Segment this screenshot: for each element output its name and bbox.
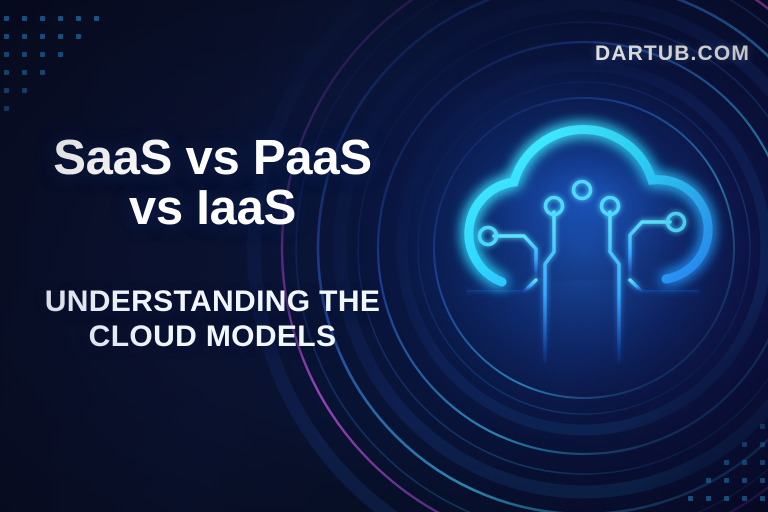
headline-line-1: SaaS vs PaaS	[53, 131, 372, 185]
grid-dot	[724, 478, 729, 483]
grid-dot	[4, 88, 9, 93]
vignette-overlay	[0, 0, 768, 512]
dot-grid-bottom-right	[688, 424, 768, 512]
grid-dot	[58, 34, 63, 39]
promo-banner: DARTUB.COM SaaS vs PaaS vs IaaS UNDERSTA…	[0, 0, 768, 512]
grid-dot	[40, 16, 45, 21]
grid-dot	[760, 442, 765, 447]
grid-dot	[760, 424, 765, 429]
grid-dot	[688, 496, 693, 501]
grid-dot	[4, 34, 9, 39]
grid-dot	[742, 442, 747, 447]
concentric-rings-decoration	[0, 0, 768, 512]
cloud-circuit-icon	[432, 104, 732, 394]
grid-dot	[40, 52, 45, 57]
grid-dot	[22, 88, 27, 93]
page-title: SaaS vs PaaS vs IaaS	[0, 133, 425, 234]
subhead-line-2: CLOUD MODELS	[0, 319, 425, 354]
grid-dot	[724, 496, 729, 501]
grid-dot	[76, 34, 81, 39]
grid-dot	[22, 70, 27, 75]
grid-dot	[4, 70, 9, 75]
circuit-node-group	[480, 182, 685, 245]
grid-dot	[40, 70, 45, 75]
grid-dot	[22, 52, 27, 57]
page-subtitle: UNDERSTANDING THE CLOUD MODELS	[0, 284, 425, 354]
headline-line-2: vs IaaS	[0, 183, 425, 233]
grid-dot	[4, 106, 9, 111]
grid-dot	[22, 34, 27, 39]
subhead-line-1: UNDERSTANDING THE	[45, 285, 381, 318]
grid-dot	[706, 478, 711, 483]
grid-dot	[40, 34, 45, 39]
grid-dot	[760, 496, 765, 501]
grid-dot	[742, 478, 747, 483]
grid-dot	[22, 16, 27, 21]
grid-dot	[58, 16, 63, 21]
grid-dot	[724, 460, 729, 465]
grid-dot	[76, 16, 81, 21]
grid-dot	[760, 478, 765, 483]
grid-dot	[742, 460, 747, 465]
dot-grid-top-left	[4, 16, 124, 136]
grid-dot	[58, 52, 63, 57]
brand-watermark: DARTUB.COM	[595, 42, 750, 66]
grid-dot	[94, 16, 99, 21]
grid-dot	[4, 52, 9, 57]
grid-dot	[4, 16, 9, 21]
grid-dot	[742, 496, 747, 501]
grid-dot	[706, 496, 711, 501]
grid-dot	[760, 460, 765, 465]
